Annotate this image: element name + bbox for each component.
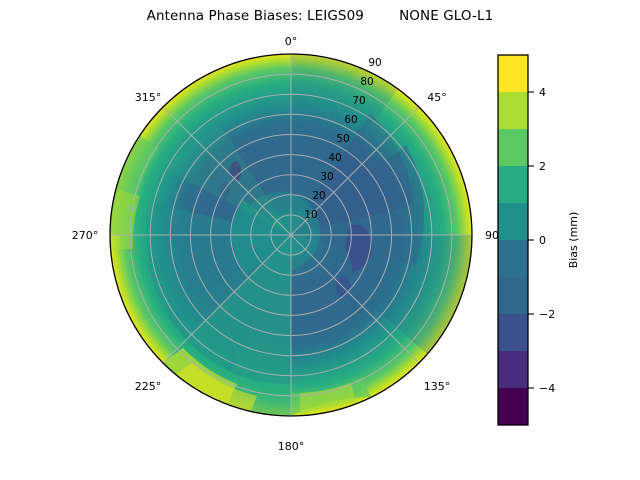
colorbar-axes: 4 2 0 −2 −4 Bias (mm) <box>490 40 640 460</box>
figure-canvas: Antenna Phase Biases: LEIGS09 NONE GLO-L… <box>0 0 640 480</box>
polar-grid <box>110 54 472 416</box>
colorbar-band-2 <box>498 351 528 388</box>
colorbar-band-4 <box>498 277 528 314</box>
radial-tick-70: 70 <box>352 95 365 107</box>
colorbar-band-7 <box>498 166 528 203</box>
colorbar-band-8 <box>498 129 528 166</box>
azimuth-tick-225: 225° <box>135 380 162 393</box>
azimuth-tick-270: 270° <box>72 229 99 242</box>
colorbar-ticklabel-0: 0 <box>539 234 546 247</box>
colorbar-tick-labels: 4 2 0 −2 −4 <box>539 86 555 395</box>
colorbar-band-10 <box>498 55 528 92</box>
colorbar-title: Bias (mm) <box>567 212 580 269</box>
radial-tick-10: 10 <box>304 209 317 221</box>
colorbar-band-5 <box>498 240 528 277</box>
azimuth-tick-0: 0° <box>285 35 298 48</box>
colorbar-bands <box>498 55 528 425</box>
colorbar-ticklabel-neg2: −2 <box>539 308 555 321</box>
colorbar-band-1 <box>498 388 528 425</box>
radial-tick-90: 90 <box>368 57 381 69</box>
radial-tick-80: 80 <box>360 76 373 88</box>
colorbar-ticks <box>528 92 534 388</box>
polar-axes: 10 20 30 40 50 60 70 80 90 0° 45° 90 135… <box>0 0 520 480</box>
colorbar-ticklabel-2: 2 <box>539 160 546 173</box>
azimuth-tick-180: 180° <box>278 440 305 453</box>
radial-tick-30: 30 <box>320 171 333 183</box>
radial-tick-60: 60 <box>344 114 357 126</box>
azimuth-tick-135: 135° <box>424 380 451 393</box>
radial-tick-50: 50 <box>336 133 349 145</box>
radial-tick-20: 20 <box>312 190 325 202</box>
colorbar-band-6 <box>498 203 528 240</box>
radial-tick-40: 40 <box>328 152 341 164</box>
colorbar-ticklabel-neg4: −4 <box>539 382 555 395</box>
azimuth-tick-45: 45° <box>427 91 447 104</box>
colorbar-ticklabel-4: 4 <box>539 86 546 99</box>
colorbar-band-3 <box>498 314 528 351</box>
colorbar-band-9 <box>498 92 528 129</box>
azimuth-tick-315: 315° <box>135 91 162 104</box>
